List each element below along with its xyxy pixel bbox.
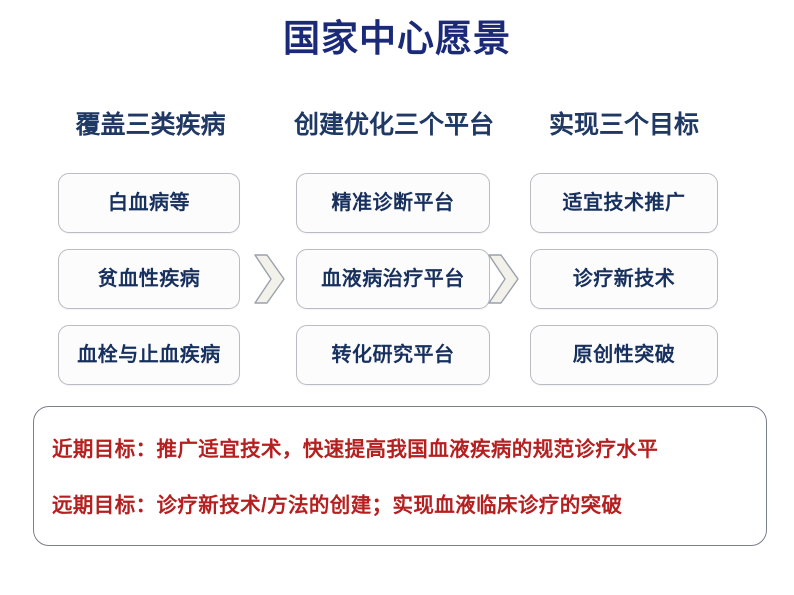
chevron-right-icon-1 xyxy=(253,252,287,306)
goal-short-term: 近期目标：推广适宜技术，快速提高我国血液疾病的规范诊疗水平 xyxy=(52,435,748,465)
box-objective-original-breakthrough[interactable]: 原创性突破 xyxy=(530,325,718,385)
box-platform-precision-diagnosis[interactable]: 精准诊断平台 xyxy=(296,173,490,233)
slide-canvas: 国家中心愿景 覆盖三类疾病 创建优化三个平台 实现三个目标 白血病等 贫血性疾病… xyxy=(0,0,794,595)
column-header-platforms: 创建优化三个平台 xyxy=(285,108,503,142)
page-title: 国家中心愿景 xyxy=(0,16,794,62)
column-header-diseases: 覆盖三类疾病 xyxy=(58,108,243,142)
goal-long-term: 远期目标：诊疗新技术/方法的创建；实现血液临床诊疗的突破 xyxy=(52,491,748,521)
box-disease-leukemia[interactable]: 白血病等 xyxy=(58,173,240,233)
box-platform-blood-disease-treatment[interactable]: 血液病治疗平台 xyxy=(296,249,490,309)
chevron-right-icon-2 xyxy=(487,252,521,306)
box-objective-new-technology[interactable]: 诊疗新技术 xyxy=(530,249,718,309)
box-objective-technology-promotion[interactable]: 适宜技术推广 xyxy=(530,173,718,233)
box-disease-thrombosis[interactable]: 血栓与止血疾病 xyxy=(58,325,240,385)
box-platform-translational-research[interactable]: 转化研究平台 xyxy=(296,325,490,385)
box-disease-anemia[interactable]: 贫血性疾病 xyxy=(58,249,240,309)
column-header-goals: 实现三个目标 xyxy=(530,108,718,142)
goals-panel: 近期目标：推广适宜技术，快速提高我国血液疾病的规范诊疗水平 远期目标：诊疗新技术… xyxy=(33,406,767,546)
